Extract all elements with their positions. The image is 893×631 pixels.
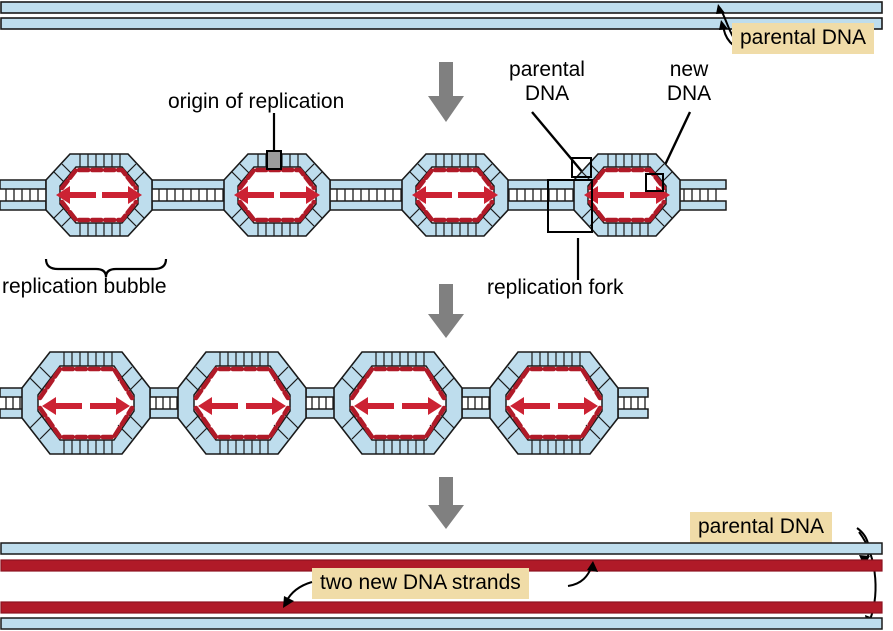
parental-dna-fork-line-2: DNA bbox=[492, 82, 602, 106]
replication-bubble bbox=[22, 352, 150, 454]
duplex-segment bbox=[502, 180, 580, 210]
two-new-dna-strands-label: two new DNA strands bbox=[312, 568, 529, 599]
replication-bubble bbox=[490, 352, 618, 454]
stage-3-expanded-replication-bubbles bbox=[0, 340, 740, 465]
two-new-dna-strands-leader-left bbox=[276, 578, 320, 612]
duplex-segment bbox=[618, 388, 648, 418]
arrow-shape bbox=[428, 62, 464, 122]
process-arrow-2 bbox=[428, 284, 464, 340]
duplex-segment bbox=[306, 388, 336, 418]
figure-canvas: parental DNA origin of replication paren… bbox=[0, 0, 893, 631]
replication-bubble bbox=[402, 154, 508, 236]
duplex-segment bbox=[0, 180, 46, 210]
parental-dna-top-label: parental DNA bbox=[732, 23, 874, 54]
replication-bubble bbox=[574, 154, 680, 236]
origin-of-replication-marker bbox=[267, 151, 281, 169]
leader-arrowhead-upper bbox=[716, 4, 725, 14]
parental-strand-top bbox=[1, 543, 882, 554]
leader-arrowhead bbox=[587, 561, 598, 572]
duplex-segment bbox=[0, 388, 24, 418]
replication-bubble bbox=[224, 151, 330, 236]
arrow-shape bbox=[428, 477, 464, 529]
replication-bubble-label: replication bubble bbox=[2, 275, 167, 299]
duplex-segment bbox=[330, 180, 408, 210]
new-strand-lower bbox=[1, 602, 882, 613]
parental-dna-bottom-label: parental DNA bbox=[690, 512, 832, 543]
new-dna-line-1: new bbox=[648, 58, 730, 82]
parental-strand-bottom bbox=[1, 618, 882, 629]
process-arrow-3 bbox=[428, 477, 464, 531]
duplex-segment bbox=[152, 180, 234, 210]
origin-of-replication-label: origin of replication bbox=[168, 90, 344, 114]
new-dna-line-2: DNA bbox=[648, 82, 730, 106]
stage-2-small-replication-bubbles bbox=[0, 140, 740, 250]
replication-bubble bbox=[178, 352, 306, 454]
process-arrow-1 bbox=[428, 62, 464, 124]
duplex-segment bbox=[676, 180, 726, 210]
replication-fork-leader bbox=[574, 238, 582, 280]
arrow-shape bbox=[428, 284, 464, 338]
replication-bubble bbox=[334, 352, 462, 454]
parental-dna-fork-line-1: parental bbox=[492, 58, 602, 82]
replication-fork-label: replication fork bbox=[487, 276, 624, 300]
parental-dna-fork-label: parental DNA bbox=[492, 58, 602, 105]
duplex-segment bbox=[150, 388, 180, 418]
replication-bubble bbox=[46, 154, 152, 236]
new-dna-label: new DNA bbox=[648, 58, 730, 105]
two-new-dna-strands-leader-right bbox=[560, 558, 606, 590]
duplex-segment bbox=[462, 388, 492, 418]
